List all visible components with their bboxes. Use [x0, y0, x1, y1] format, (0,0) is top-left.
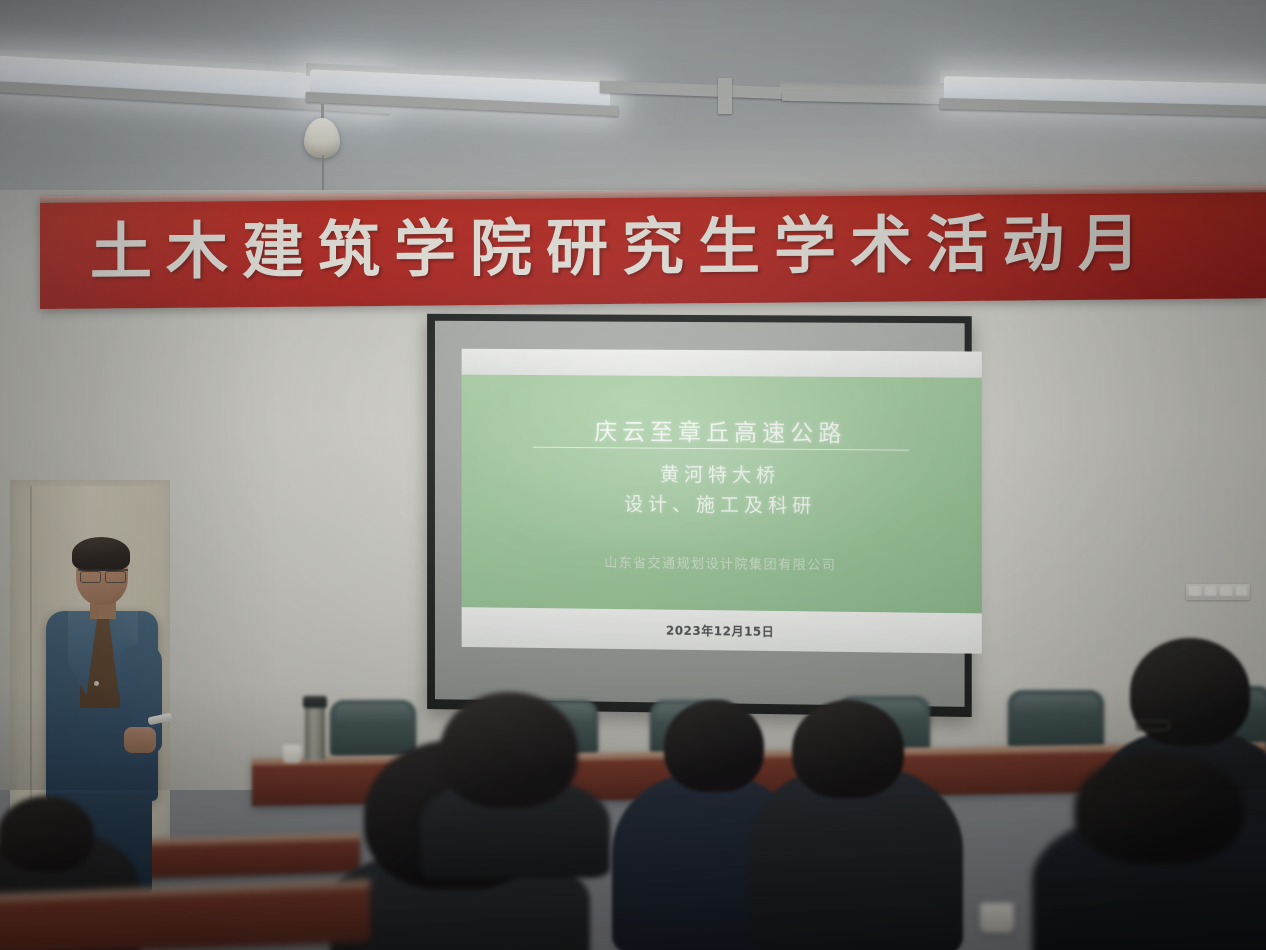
- ceiling-shading: [0, 0, 1266, 196]
- paper-cup: [980, 903, 1014, 933]
- attendee-head: [0, 796, 94, 872]
- wall-shading: [0, 190, 1266, 790]
- lecture-hall-scene: 土木建筑学院研究生学术活动月 庆云至章丘高速公路 黄河特大桥 设计、施工及科研 …: [0, 0, 1266, 950]
